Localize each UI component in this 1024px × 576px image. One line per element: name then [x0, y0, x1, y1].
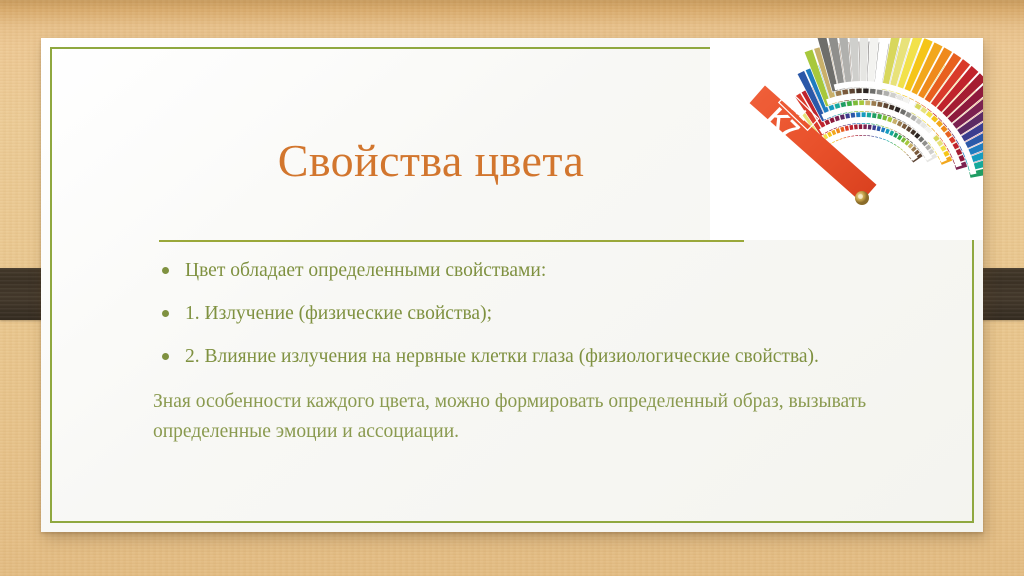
bullet-dot-icon	[162, 310, 169, 317]
bullet-dot-icon	[162, 353, 169, 360]
closing-paragraph: Зная особенности каждого цвета, можно фо…	[153, 387, 888, 447]
title-divider-rule	[159, 240, 744, 242]
slide-body: Цвет обладает определенными свойствами: …	[153, 258, 913, 447]
list-item: Цвет обладает определенными свойствами:	[153, 258, 913, 284]
slide-canvas: Свойства цвета Цвет обладает определенны…	[0, 0, 1024, 576]
fan-deck-illustration: RAL K7 CLASSIC	[710, 38, 983, 240]
bullet-list: Цвет обладает определенными свойствами: …	[153, 258, 913, 370]
bullet-dot-icon	[162, 267, 169, 274]
ral-fan-deck-image: RAL K7 CLASSIC	[710, 38, 983, 240]
presentation-slide: Свойства цвета Цвет обладает определенны…	[41, 38, 983, 532]
bullet-text: Цвет обладает определенными свойствами:	[185, 260, 546, 281]
slide-title: Свойства цвета	[111, 134, 751, 188]
fan-deck-svg: RAL K7 CLASSIC	[710, 38, 983, 240]
list-item: 2. Влияние излучения на нервные клетки г…	[153, 344, 913, 370]
bullet-text: 1. Излучение (физические свойства);	[185, 303, 492, 324]
list-item: 1. Излучение (физические свойства);	[153, 301, 913, 327]
slide-content: Свойства цвета Цвет обладает определенны…	[41, 38, 983, 532]
bullet-text: 2. Влияние излучения на нервные клетки г…	[185, 346, 819, 367]
